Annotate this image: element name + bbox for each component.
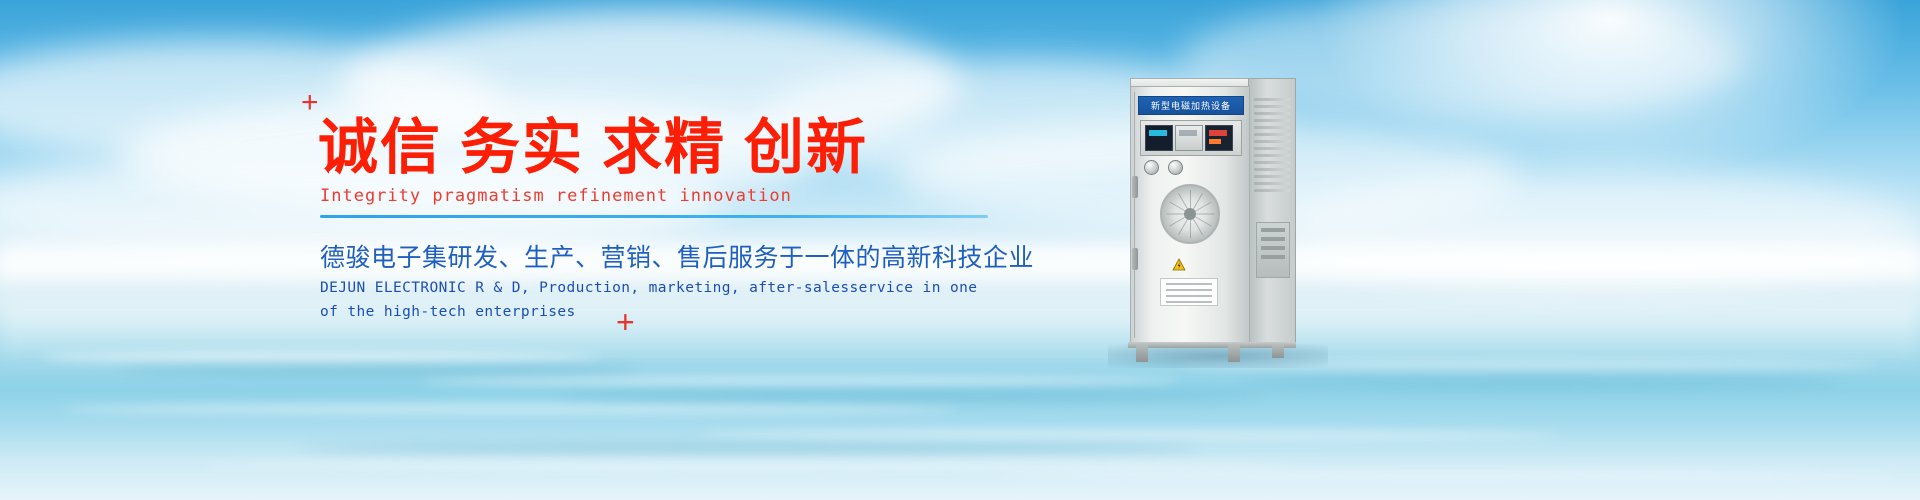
wave-shadow bbox=[1240, 378, 1840, 386]
door-hinge bbox=[1132, 176, 1138, 198]
control-knob-icon bbox=[1168, 160, 1183, 175]
product-image: 新型电磁加热设备 bbox=[1124, 72, 1304, 362]
headline: 诚信务实求精创新 bbox=[318, 118, 868, 178]
door-seam bbox=[1134, 92, 1135, 338]
wave bbox=[1000, 470, 1900, 480]
tagline-english: Integrity pragmatism refinement innovati… bbox=[320, 186, 792, 206]
headline-word-3: 求精 bbox=[602, 113, 726, 183]
cabinet-base bbox=[1128, 342, 1296, 348]
door-hinge bbox=[1132, 248, 1138, 270]
headline-word-2: 务实 bbox=[460, 113, 584, 183]
product-label-text: 新型电磁加热设备 bbox=[1151, 99, 1231, 112]
side-vent-grille bbox=[1254, 98, 1290, 208]
product-label-plate: 新型电磁加热设备 bbox=[1138, 96, 1244, 115]
control-knob-icon bbox=[1144, 160, 1159, 175]
warning-icon bbox=[1172, 258, 1186, 271]
cabinet-leg bbox=[1136, 344, 1148, 362]
spec-sticker bbox=[1160, 278, 1218, 306]
wave bbox=[200, 460, 1300, 470]
wave bbox=[60, 404, 960, 414]
subtitle-chinese: 德骏电子集研发、生产、营销、售后服务于一体的高新科技企业 bbox=[320, 238, 1034, 274]
keypad-display bbox=[1205, 125, 1233, 151]
plus-decor-icon: + bbox=[301, 88, 319, 118]
knob-row bbox=[1142, 160, 1238, 176]
wave bbox=[40, 352, 600, 362]
promo-banner: + + 诚信务实求精创新 Integrity pragmatism refine… bbox=[0, 0, 1920, 500]
wave bbox=[700, 430, 1560, 440]
cabinet-leg bbox=[1272, 344, 1284, 358]
wave-shadow bbox=[560, 392, 1260, 400]
headline-word-1: 诚信 bbox=[318, 113, 442, 183]
cabinet-leg bbox=[1228, 344, 1240, 362]
divider-rule bbox=[320, 215, 988, 218]
side-access-panel bbox=[1256, 222, 1290, 278]
analog-gauge bbox=[1175, 125, 1203, 151]
control-panel bbox=[1140, 120, 1242, 156]
cooling-fan-icon bbox=[1160, 184, 1220, 244]
subtitle-english: DEJUN ELECTRONIC R & D, Production, mark… bbox=[320, 276, 980, 324]
digital-display bbox=[1145, 125, 1173, 151]
wave-shadow bbox=[120, 366, 640, 374]
wave bbox=[420, 376, 1180, 386]
wave-shadow bbox=[300, 444, 1200, 452]
headline-word-4: 创新 bbox=[744, 113, 868, 183]
